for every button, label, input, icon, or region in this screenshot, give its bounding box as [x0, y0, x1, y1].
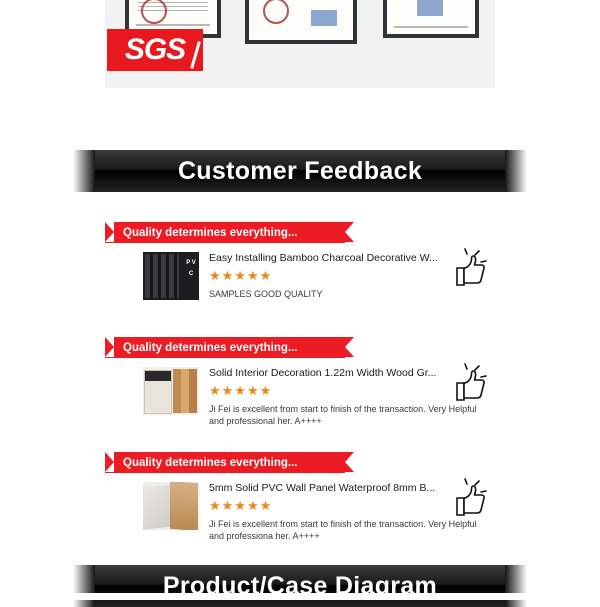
ribbon-notch	[105, 337, 114, 357]
sgs-logo: SGS	[107, 29, 203, 71]
ribbon-notch	[105, 452, 114, 472]
review-card: Quality determines everything... Solid I…	[105, 337, 495, 427]
thumbs-up-icon	[453, 248, 487, 288]
review-card: Quality determines everything... Easy In…	[105, 222, 495, 300]
review-ribbon: Quality determines everything...	[105, 337, 345, 358]
ribbon-tail	[345, 222, 354, 242]
review-card: Quality determines everything... 5mm Sol…	[105, 452, 495, 542]
page-bottom-margin	[0, 593, 600, 600]
product-thumbnail	[143, 482, 199, 530]
section-header-customer-feedback: Customer Feedback	[95, 150, 505, 192]
section-header-product-case-diagram: Product/Case Diagram	[95, 565, 505, 607]
ribbon-label: Quality determines everything...	[123, 227, 297, 239]
band-right-margin	[495, 0, 600, 88]
thumbs-up-icon	[453, 363, 487, 403]
review-ribbon: Quality determines everything...	[105, 452, 345, 473]
ribbon-label: Quality determines everything...	[123, 342, 297, 354]
sgs-logo-text: SGS	[125, 35, 185, 65]
review-comment: Ji Fei is excellent from start to finish…	[209, 403, 489, 427]
bar-cap-left	[73, 565, 95, 607]
ribbon-tail	[345, 452, 354, 472]
product-thumbnail	[143, 367, 199, 415]
review-comment: SAMPLES GOOD QUALITY	[209, 288, 489, 300]
bar-cap-right	[505, 565, 527, 607]
review-ribbon: Quality determines everything...	[105, 222, 345, 243]
certificate-band: SGS	[0, 0, 600, 88]
review-body: 5mm Solid PVC Wall Panel Waterproof 8mm …	[105, 482, 495, 542]
review-body: Easy Installing Bamboo Charcoal Decorati…	[105, 252, 495, 300]
review-comment: Ji Fei is excellent from start to finish…	[209, 518, 489, 542]
section-title-text: Customer Feedback	[178, 157, 422, 186]
certificate-frame-right	[383, 0, 479, 38]
ribbon-notch	[105, 222, 114, 242]
ribbon-tail	[345, 337, 354, 357]
review-body: Solid Interior Decoration 1.22m Width Wo…	[105, 367, 495, 427]
sgs-slash-mark	[190, 41, 201, 69]
product-thumbnail	[143, 252, 199, 300]
thumbs-up-icon	[453, 478, 487, 518]
bar-cap-right	[505, 150, 527, 192]
certificate-frame-center	[245, 0, 357, 44]
bar-cap-left	[73, 150, 95, 192]
ribbon-label: Quality determines everything...	[123, 457, 297, 469]
